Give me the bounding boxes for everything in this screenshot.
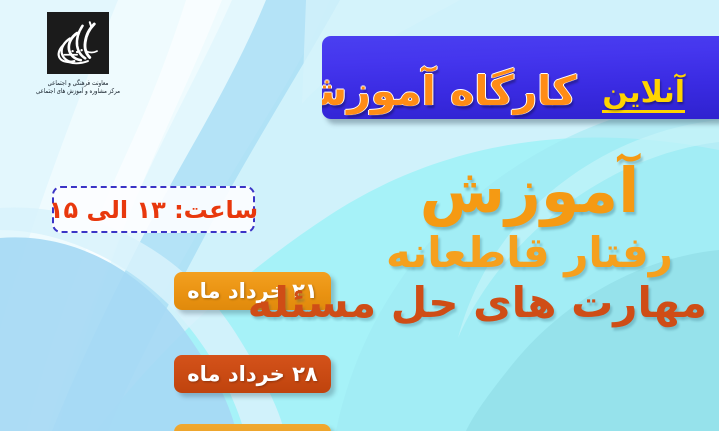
logo-calligraphy-icon [50,15,106,71]
poster-canvas: معاونت فرهنگی و اجتماعی مرکز مشاوره و آم… [0,0,719,431]
headline-stack: آموزش رفتار قاطعانه مهارت های حل مسئله [352,160,707,332]
time-box: ساعت: ۱۳ الی ۱۵ [52,186,255,233]
workshop-banner: آنلاین کارگاه آموزشی [322,36,719,119]
logo-mark [47,12,109,74]
date-chip-3 [174,424,331,431]
banner-title: کارگاه آموزشی [322,70,576,113]
university-logo: معاونت فرهنگی و اجتماعی مرکز مشاوره و آم… [14,8,142,126]
logo-caption: معاونت فرهنگی و اجتماعی مرکز مشاوره و آم… [14,81,142,97]
logo-caption-line-2: مرکز مشاوره و آموزش های اجتماعی [14,88,142,98]
headline-topic-2: مهارت های حل مسئله [352,282,707,324]
date-chip-2-label: ۲۸ خرداد ماه [187,362,318,386]
time-label: ساعت: ۱۳ الی ۱۵ [49,196,258,224]
date-chip-2: ۲۸ خرداد ماه [174,355,331,393]
banner-subtitle-online: آنلاین [602,77,685,114]
headline-topic-1: رفتار قاطعانه [352,232,707,274]
headline-main: آموزش [352,160,707,222]
banner-content: آنلاین کارگاه آموزشی [322,36,719,119]
